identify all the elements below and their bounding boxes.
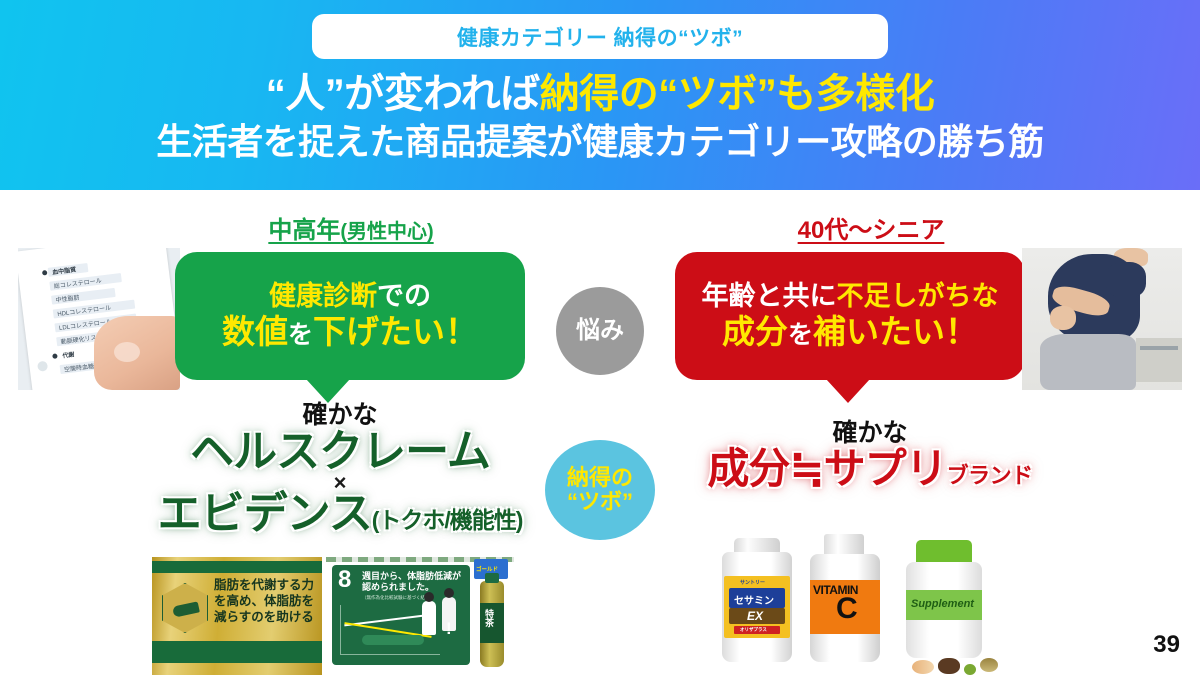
left-problem-bubble: 健康診断での 数値を下げたい！ — [175, 252, 525, 380]
title-line-1-highlight: 納得の“ツボ”も多様化 — [540, 72, 935, 116]
left-conclusion: 確かな ヘルスクレーム × エビデンス(トクホ/機能性) — [130, 402, 550, 537]
supplement-bottle-generic — [898, 528, 998, 676]
title-line-1: “人”が変われば納得の“ツボ”も多様化 — [0, 72, 1200, 117]
left-heading-sub: (男性中心) — [340, 221, 433, 243]
right-bubble-line-2: 成分を補いたい！ — [722, 314, 978, 351]
left-conclusion-line-2-note: (トクホ/機能性) — [372, 507, 523, 533]
left-conclusion-line-2-main: エビデンス — [158, 489, 372, 538]
problem-circle: 悩み — [556, 287, 644, 375]
insight-circle: 納得の “ツボ” — [545, 440, 655, 540]
pill-softgel — [938, 658, 960, 674]
title-line-1-pre: “人”が変われば — [266, 72, 540, 116]
right-heading-main: 40代〜シニア — [798, 217, 945, 244]
left-bubble-line-2: 数値を下げたい！ — [222, 314, 478, 351]
left-heading-main: 中高年 — [268, 217, 340, 244]
right-bubble-word-d: を — [788, 321, 813, 349]
right-bubble-word-a: 年齢と共に — [702, 281, 837, 311]
right-column-heading: 40代〜シニア — [706, 210, 1036, 245]
generic-supplement-label — [906, 590, 982, 620]
tea-ad-number: 8 — [338, 569, 351, 591]
product-tea-ad-photo: 8 週目から、体脂肪低減が認められました。 （無作為化比較試験に基づく結果） ! — [326, 557, 514, 675]
left-bubble-line-1-rest: での — [377, 281, 431, 311]
right-conclusion-line-1: 成分≒サプリブランド — [660, 448, 1080, 491]
sesamin-sub — [734, 626, 780, 634]
right-conclusion-main: 成分≒サプリ — [707, 445, 946, 492]
pill-tablet — [980, 658, 998, 672]
right-conclusion: 確かな 成分≒サプリブランド — [660, 420, 1080, 490]
left-bubble-word-a: 数値 — [222, 313, 288, 350]
page-number: 39 — [1153, 631, 1180, 659]
left-bubble-line-1: 健康診断での — [269, 281, 431, 311]
tea-ad-exclamation: ! — [446, 619, 452, 639]
right-problem-bubble: 年齢と共に不足しがちな 成分を補いたい！ — [675, 252, 1025, 380]
left-bubble-tail — [306, 379, 350, 403]
left-column-heading: 中高年(男性中心) — [186, 210, 516, 245]
product-gold-label-text: 脂肪を代謝する力を高め、体脂肪を減らすのを助ける — [214, 577, 318, 625]
insight-circle-line-1: 納得の — [567, 466, 633, 490]
sesamin-variant — [729, 608, 785, 624]
back-pain-photo — [1022, 248, 1182, 390]
hand-thumb — [94, 316, 180, 390]
left-bubble-word-c: 下げたい！ — [313, 313, 478, 350]
sesamin-name — [729, 588, 785, 608]
problem-circle-label: 悩み — [576, 318, 624, 344]
right-bubble-line-1: 年齢と共に不足しがちな — [702, 281, 999, 311]
header-pill-label: 健康カテゴリー 納得の“ツボ” — [457, 22, 743, 52]
supplement-bottle-vitamin-c: VITAMIN C — [808, 532, 884, 664]
right-conclusion-label: 確かな — [660, 420, 1080, 448]
tea-ad-people-illustration — [422, 589, 462, 643]
title-line-2: 生活者を捉えた商品提案が健康カテゴリー攻略の勝ち筋 — [0, 121, 1200, 163]
tea-bottle — [476, 563, 508, 667]
left-bubble-word-b: を — [288, 321, 313, 349]
slide: 健康カテゴリー 納得の“ツボ” “人”が変われば納得の“ツボ”も多様化 生活者を… — [0, 0, 1200, 675]
right-bubble-word-c: 成分 — [722, 313, 788, 350]
left-conclusion-label: 確かな — [130, 402, 550, 430]
health-check-photo: 血中脂質 総コレステロール 中性脂肪 HDLコレステロール LDLコレステロール… — [18, 248, 180, 390]
header-pill: 健康カテゴリー 納得の“ツボ” — [312, 14, 888, 59]
pill-green — [964, 664, 976, 675]
left-conclusion-line-1: ヘルスクレーム — [130, 430, 550, 475]
insight-circle-line-2: “ツボ” — [567, 490, 633, 514]
right-bubble-word-e: 補いたい！ — [813, 313, 978, 350]
product-gold-label-photo: 脂肪を代謝する力を高め、体脂肪を減らすのを助ける — [152, 557, 322, 675]
sesamin-brand: サントリー — [740, 579, 765, 586]
pill-capsule — [912, 660, 934, 674]
right-bubble-word-b: 不足しがちな — [837, 281, 999, 311]
header-band: 健康カテゴリー 納得の“ツボ” “人”が変われば納得の“ツボ”も多様化 生活者を… — [0, 0, 1200, 190]
left-bubble-line-1-highlight: 健康診断 — [269, 281, 377, 311]
right-conclusion-note: ブランド — [947, 463, 1033, 488]
left-conclusion-line-2: エビデンス(トクホ/機能性) — [130, 492, 550, 537]
right-bubble-tail — [826, 379, 870, 403]
title-block: “人”が変われば納得の“ツボ”も多様化 生活者を捉えた商品提案が健康カテゴリー攻… — [0, 72, 1200, 163]
supplement-bottle-sesamin: サントリー — [718, 532, 796, 664]
vitamin-c-letter: C — [836, 594, 858, 624]
